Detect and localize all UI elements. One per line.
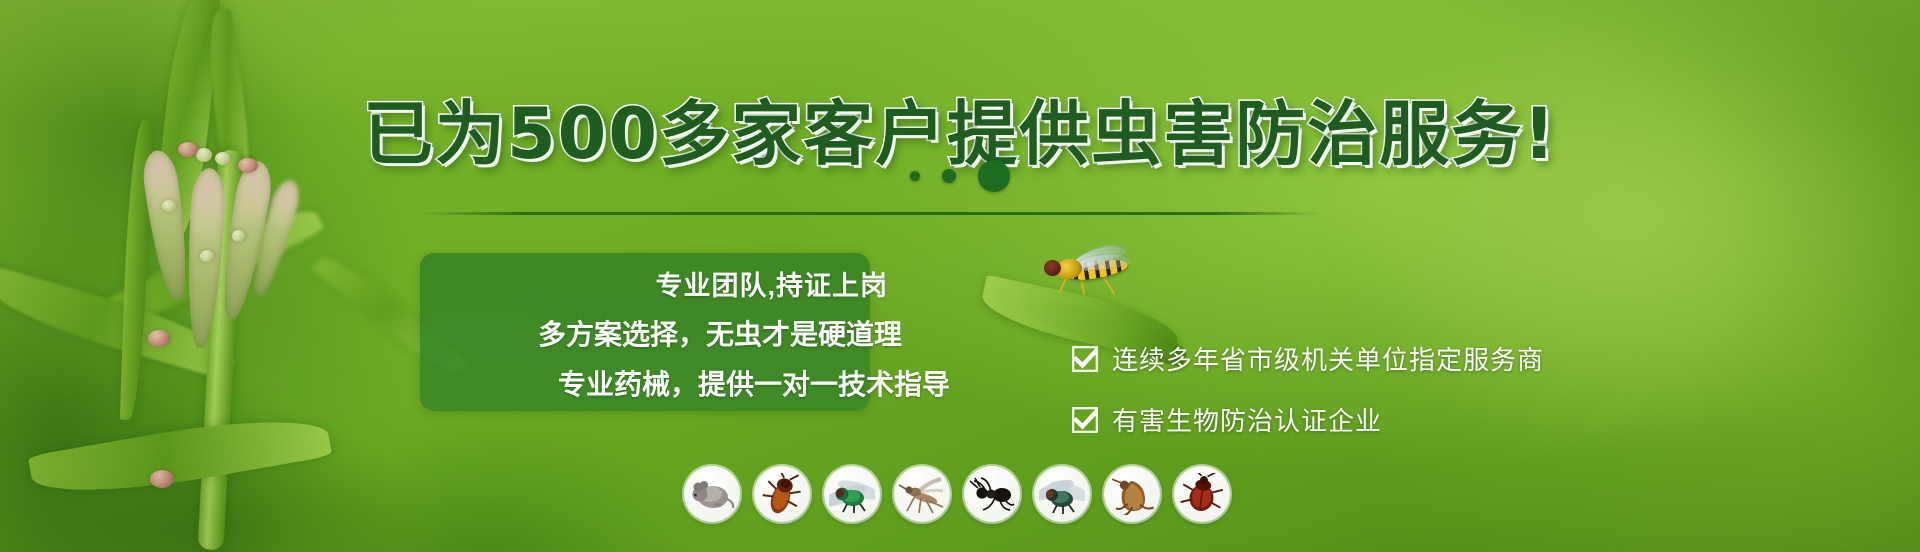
small-dot-icon: [910, 171, 920, 181]
checklist-item: 连续多年省市级机关单位指定服务商: [1072, 340, 1544, 377]
promo-banner: 已为500多家客户提供虫害防治服务! 专业团队,持证上岗 多方案选择，无虫才是硬…: [0, 0, 1920, 552]
claims-panel-text: 专业团队,持证上岗 多方案选择，无虫才是硬道理 专业药械，提供一对一技术指导: [420, 256, 900, 411]
leaf-blade: [28, 404, 332, 507]
checkbox-checked-icon: [1072, 407, 1098, 433]
flower-bud: [150, 470, 174, 488]
checklist-item-label: 有害生物防治认证企业: [1112, 401, 1382, 438]
housefly-icon[interactable]: [1034, 466, 1090, 522]
pest-icon-strip: [684, 466, 1230, 522]
hoverfly-icon: [1040, 248, 1160, 292]
bottle-fly-icon[interactable]: [824, 466, 880, 522]
flower-bud: [148, 330, 170, 347]
hoverfly-head: [1044, 260, 1061, 276]
checklist-item: 有害生物防治认证企业: [1072, 401, 1544, 438]
flea-icon[interactable]: [1104, 466, 1160, 522]
flower-bud: [232, 230, 245, 242]
bedbug-icon[interactable]: [1174, 466, 1230, 522]
checkbox-checked-icon: [1072, 346, 1098, 372]
medium-dot-icon: [942, 169, 956, 183]
checklist: 连续多年省市级机关单位指定服务商 有害生物防治认证企业: [1072, 340, 1544, 438]
ant-icon[interactable]: [964, 466, 1020, 522]
large-dot-icon: [978, 160, 1010, 192]
claim-line-3: 专业药械，提供一对一技术指导: [558, 363, 950, 403]
decorative-dots: [0, 160, 1920, 192]
flower-bud: [200, 250, 214, 262]
flower-bud: [162, 200, 176, 212]
claim-line-1: 专业团队,持证上岗: [655, 264, 888, 303]
mouse-icon[interactable]: [684, 466, 740, 522]
checklist-item-label: 连续多年省市级机关单位指定服务商: [1112, 340, 1544, 377]
divider-line: [420, 212, 1320, 215]
claim-line-2: 多方案选择，无虫才是硬道理: [538, 313, 902, 353]
mosquito-icon[interactable]: [894, 466, 950, 522]
cockroach-icon[interactable]: [754, 466, 810, 522]
